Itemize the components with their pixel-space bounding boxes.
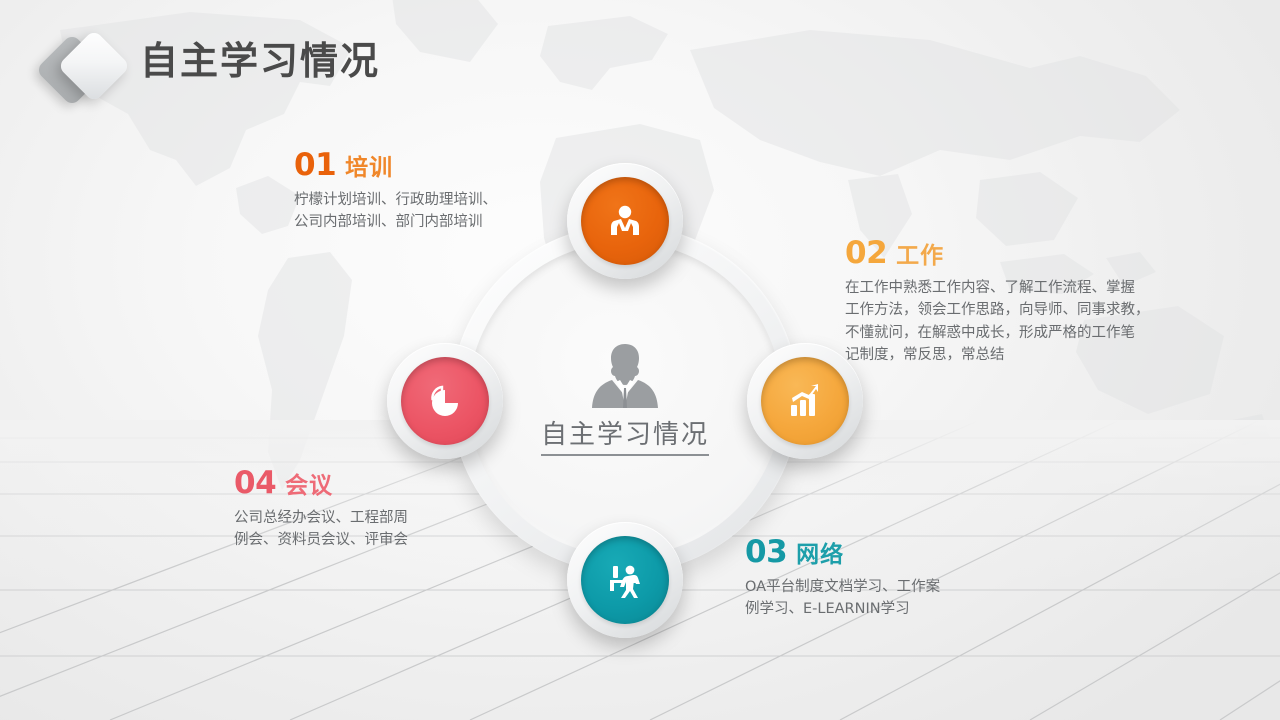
work-description: 在工作中熟悉工作内容、了解工作流程、掌握 工作方法，领会工作思路，向导师、同事求…: [845, 277, 1150, 367]
work-number: 02: [845, 238, 887, 269]
meeting-number: 04: [234, 468, 276, 499]
network-number: 03: [745, 537, 787, 568]
text-block-work: 02 工作 在工作中熟悉工作内容、了解工作流程、掌握 工作方法，领会工作思路，向…: [845, 238, 1150, 367]
meeting-heading: 04 会议: [234, 468, 408, 499]
network-heading: 03 网络: [745, 537, 940, 568]
meeting-description: 公司总经办会议、工程部周 例会、资料员会议、评审会: [234, 507, 408, 552]
node-network[interactable]: [567, 522, 683, 638]
person-at-desk-icon: [605, 560, 645, 600]
training-number: 01: [294, 150, 336, 181]
text-block-network: 03 网络 OA平台制度文档学习、工作案 例学习、E-LEARNIN学习: [745, 537, 940, 621]
text-block-meeting: 04 会议 公司总经办会议、工程部周 例会、资料员会议、评审会: [234, 468, 408, 552]
node-training[interactable]: [567, 163, 683, 279]
training-description: 柠檬计划培训、行政助理培训、 公司内部培训、部门内部培训: [294, 189, 497, 234]
slide-header: 自主学习情况: [0, 0, 1280, 130]
double-diamond-icon: [46, 38, 132, 102]
center-label: 自主学习情况: [541, 414, 709, 456]
training-heading: 01 培训: [294, 150, 497, 181]
page-title: 自主学习情况: [140, 41, 380, 83]
text-block-training: 01 培训 柠檬计划培训、行政助理培训、 公司内部培训、部门内部培训: [294, 150, 497, 234]
node-network-disc: [581, 536, 669, 624]
businessman-avatar-icon: [590, 342, 660, 408]
work-heading: 02 工作: [845, 238, 1150, 269]
network-word: 网络: [796, 544, 844, 567]
training-word: 培训: [345, 157, 393, 180]
work-word: 工作: [896, 245, 944, 268]
bar-chart-growth-icon: [785, 381, 825, 421]
pie-chart-icon: [425, 381, 465, 421]
node-meeting-disc: [401, 357, 489, 445]
network-description: OA平台制度文档学习、工作案 例学习、E-LEARNIN学习: [745, 576, 940, 621]
slide-canvas: 自主学习情况 自主学习情况: [0, 0, 1280, 720]
node-training-disc: [581, 177, 669, 265]
meeting-word: 会议: [285, 475, 333, 498]
node-meeting[interactable]: [387, 343, 503, 459]
node-work-disc: [761, 357, 849, 445]
person-user-icon: [605, 201, 645, 241]
